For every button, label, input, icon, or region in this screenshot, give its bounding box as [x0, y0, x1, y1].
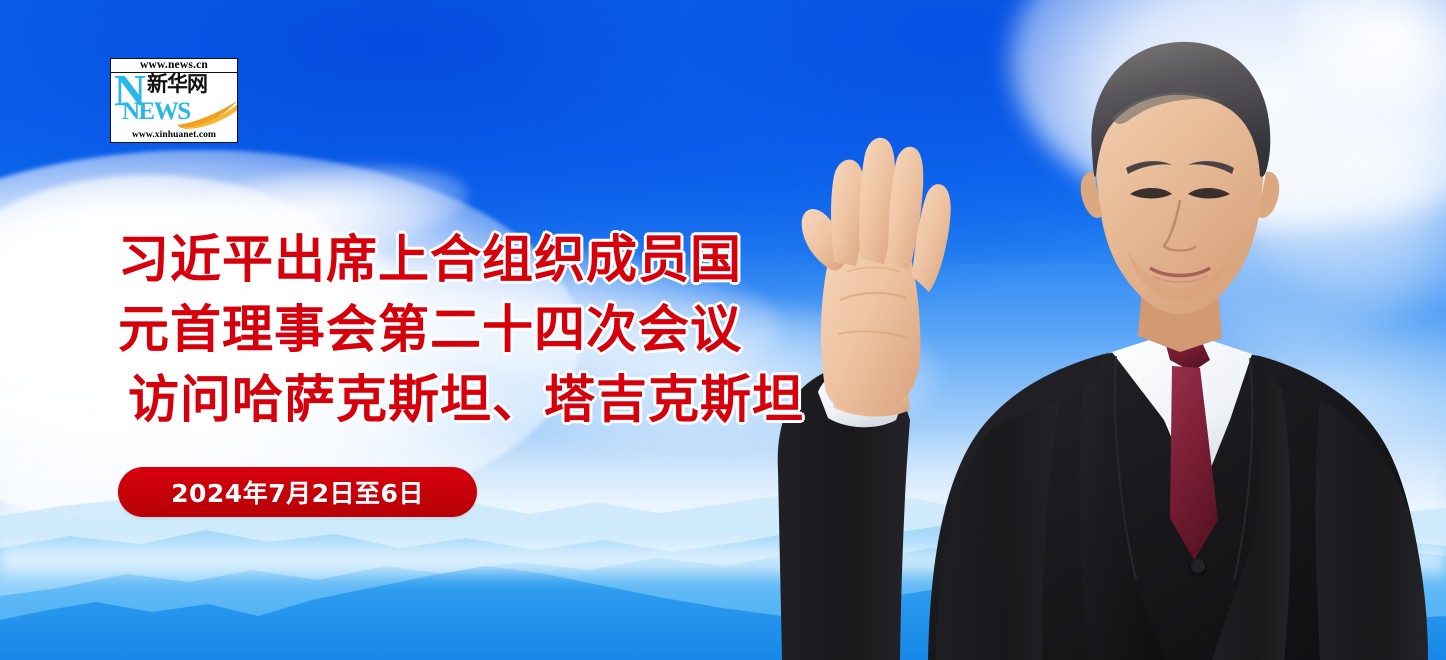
- xinhua-net-logo[interactable]: www.news.cn N 新华网 NEWS www.xinhuanet.com: [110, 58, 238, 143]
- headline-line-3: 访问哈萨克斯坦、塔吉克斯坦: [118, 366, 804, 436]
- news-banner: www.news.cn N 新华网 NEWS www.xinhuanet.com…: [0, 0, 1446, 660]
- logo-top-url: www.news.cn: [140, 60, 208, 72]
- headline-line-1: 习近平出席上合组织成员国: [118, 226, 804, 296]
- sky-deep-patch-2: [521, 0, 1389, 264]
- headline-block: 习近平出席上合组织成员国 元首理事会第二十四次会议 访问哈萨克斯坦、塔吉克斯坦: [118, 226, 804, 436]
- date-badge-label: 2024年7月2日至6日: [171, 474, 424, 510]
- logo-brand-cn: 新华网: [147, 74, 207, 95]
- logo-top-url-bar: www.news.cn: [110, 58, 238, 73]
- logo-mark-area: N 新华网 NEWS: [110, 73, 238, 129]
- logo-bottom-url: www.xinhuanet.com: [132, 131, 216, 141]
- headline-line-2: 元首理事会第二十四次会议: [118, 296, 804, 366]
- logo-bottom-url-bar: www.xinhuanet.com: [110, 129, 238, 143]
- date-badge[interactable]: 2024年7月2日至6日: [118, 467, 477, 517]
- orange-swoosh-icon: [175, 99, 238, 129]
